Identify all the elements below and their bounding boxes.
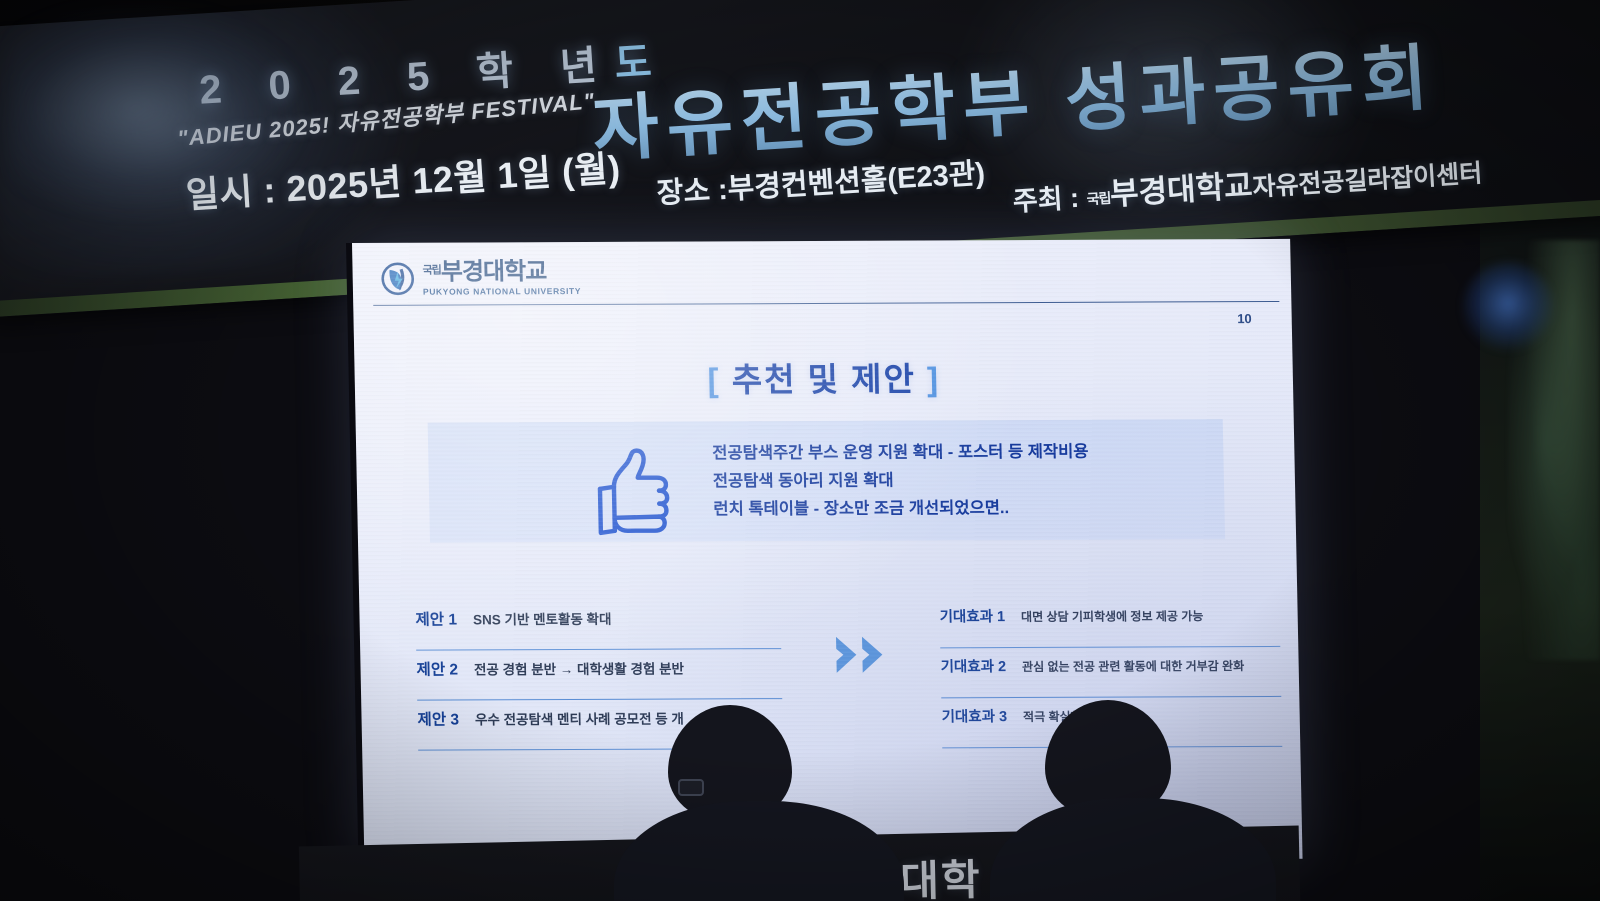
effect-row: 기대효과 2 관심 없는 전공 관련 활동에 대한 거부감 완화	[940, 647, 1281, 698]
highlight-text-list: 전공탐색주간 부스 운영 지원 확대 - 포스터 등 제작비용 전공탐색 동아리…	[712, 443, 1090, 520]
title-open-bracket: [	[707, 361, 721, 398]
proposal-label: 제안 3	[417, 707, 459, 729]
pukyong-emblem-icon	[380, 261, 415, 295]
thumbs-up-icon	[582, 445, 676, 541]
photo-scene: 2 0 2 5 학 년도 "ADIEU 2025! 자유전공학부 FESTIVA…	[0, 0, 1600, 901]
proposal-label: 제안 1	[415, 608, 457, 630]
effect-label: 기대효과 1	[939, 605, 1005, 626]
proposal-text: SNS 기반 멘토활동 확대	[473, 608, 612, 629]
effect-label: 기대효과 2	[940, 655, 1006, 676]
logo-english-name: PUKYONG NATIONAL UNIVERSITY	[423, 287, 581, 296]
effect-label: 기대효과 3	[941, 705, 1007, 726]
page-number: 10	[1237, 311, 1252, 326]
highlight-line: 전공탐색 동아리 지원 확대	[713, 471, 1090, 492]
header-divider	[373, 301, 1279, 306]
effect-text: 대면 상담 기피학생에 정보 제공 가능	[1021, 607, 1204, 625]
double-chevron-right-icon	[830, 633, 895, 677]
slide-title: [ 추천 및 제안 ]	[354, 351, 1293, 403]
audience-person-right	[1000, 700, 1250, 901]
effect-row: 기대효과 1 대면 상담 기피학생에 정보 제공 가능	[939, 597, 1280, 648]
proposal-text: 전공 경험 분반 → 대학생활 경험 분반	[474, 658, 684, 679]
audience-person-left	[620, 705, 880, 901]
shoulders-silhouette	[990, 798, 1276, 901]
logo-korean-name: 국립부경대학교	[422, 260, 581, 285]
proposal-row: 제안 2 전공 경험 분반 → 대학생활 경험 분반	[416, 649, 782, 701]
title-text: 추천 및 제안	[731, 361, 916, 399]
glasses-icon	[678, 779, 704, 796]
effect-text: 관심 없는 전공 관련 활동에 대한 거부감 완화	[1022, 657, 1244, 675]
blue-light-orb	[1462, 262, 1554, 354]
highlight-line: 전공탐색주간 부스 운영 지원 확대 - 포스터 등 제작비용	[712, 443, 1089, 464]
title-close-bracket: ]	[927, 360, 941, 397]
proposal-label: 제안 2	[416, 657, 458, 679]
shoulders-silhouette	[614, 801, 904, 901]
proposal-row: 제안 1 SNS 기반 멘토활동 확대	[415, 599, 781, 651]
university-logo: 국립부경대학교 PUKYONG NATIONAL UNIVERSITY	[380, 260, 581, 296]
highlight-line: 런치 톡테이블 - 장소만 조금 개선되었으면..	[713, 499, 1090, 520]
